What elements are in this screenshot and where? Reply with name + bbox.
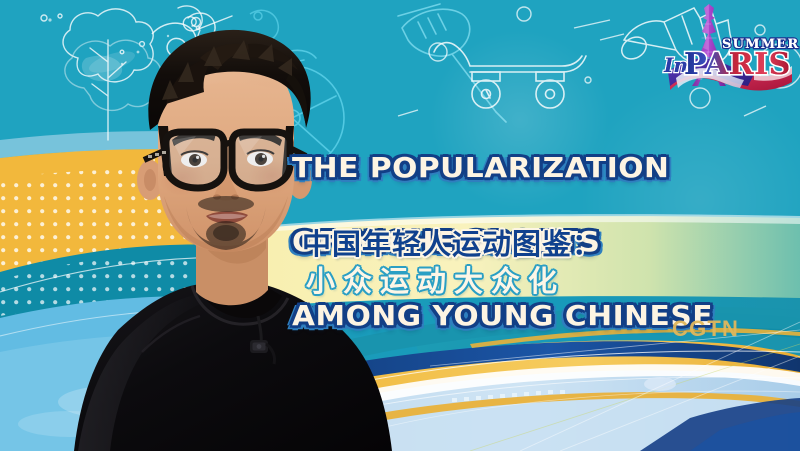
- headline-chinese-secondary: 小众运动大众化: [306, 265, 565, 298]
- summer-in-paris-logo: SUMMER SUMMER In In PARIS PARIS: [658, 2, 800, 94]
- headline-english-line-1: THE POPULARIZATION: [292, 149, 716, 186]
- headline-english-line-3: AMONG YOUNG CHINESE: [292, 297, 716, 334]
- cgtn-logo-text: CGTN: [672, 316, 739, 342]
- svg-text:PARIS: PARIS: [684, 47, 791, 82]
- thumbnail-canvas: THE POPULARIZATION OF NICHE SPORTS AMONG…: [0, 0, 800, 451]
- headline-chinese-primary: 中国年轻人运动图鉴：: [302, 228, 602, 260]
